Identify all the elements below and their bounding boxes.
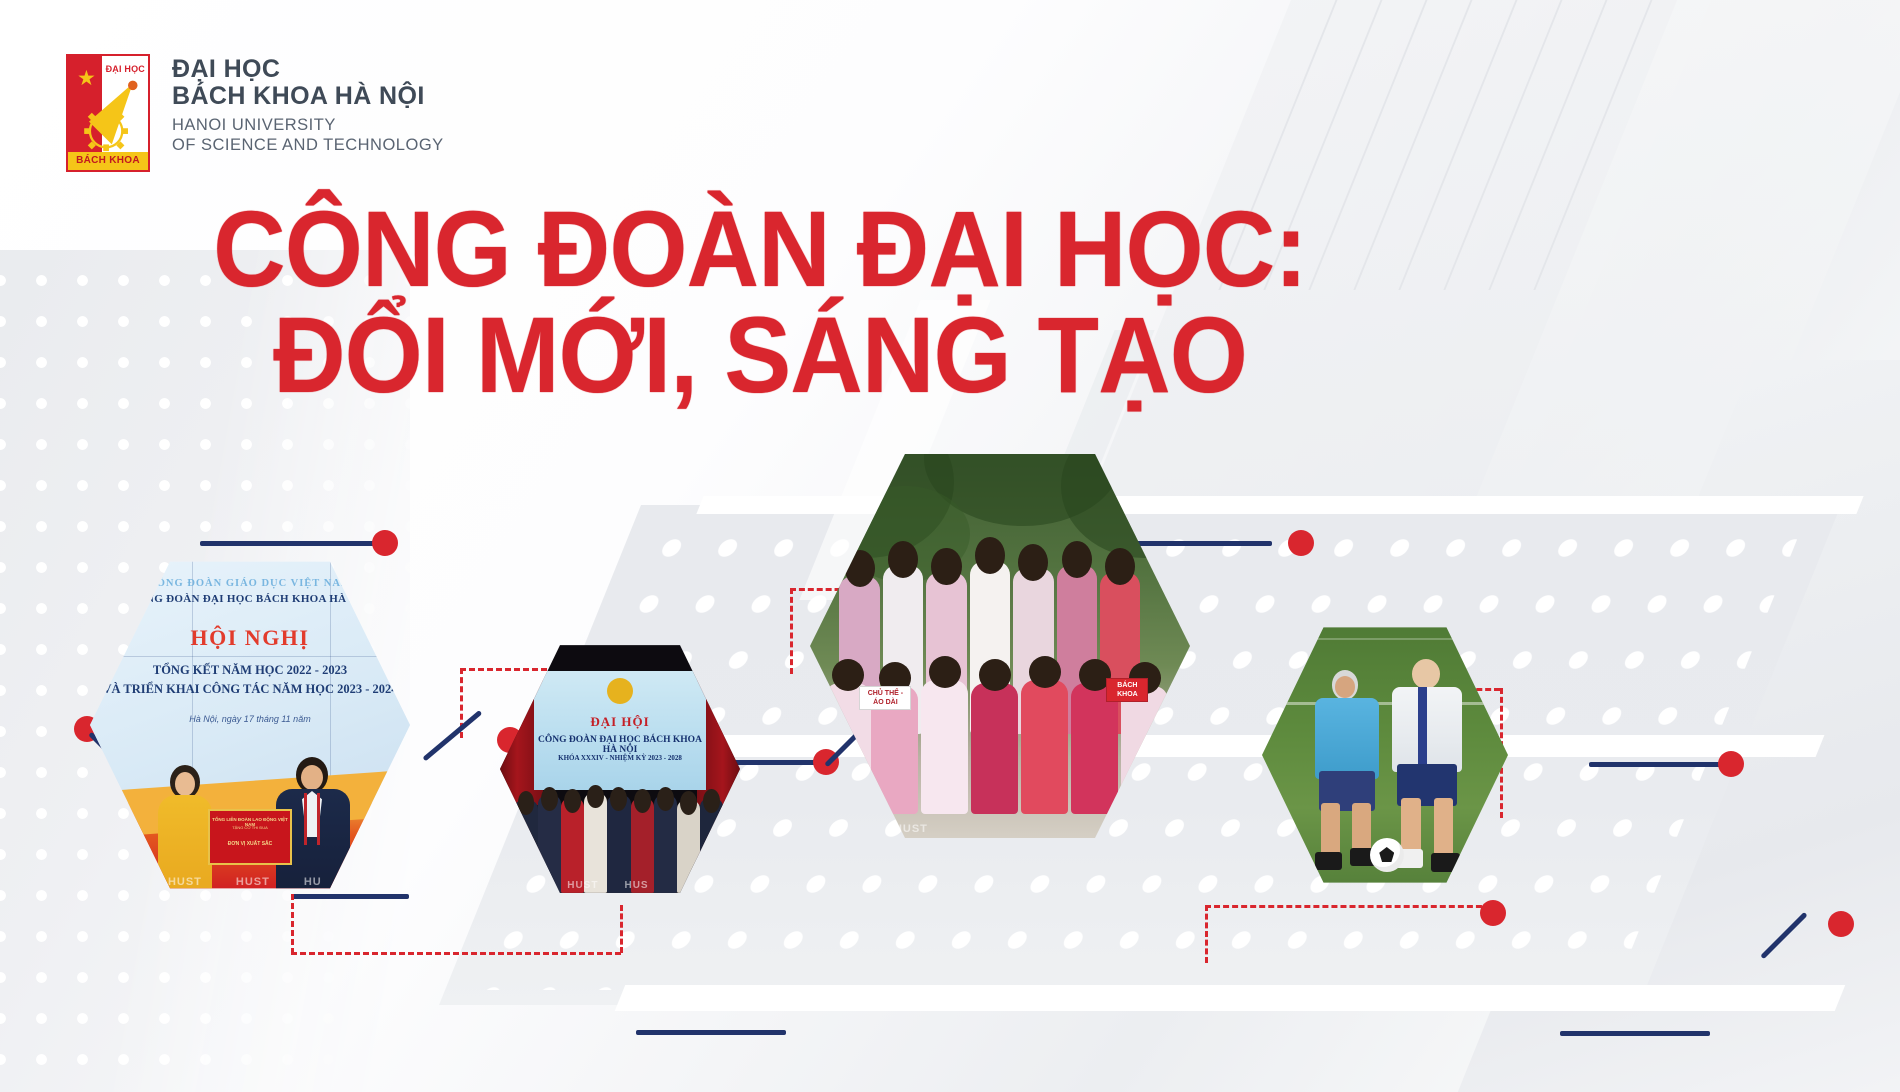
dashed-connector bbox=[291, 894, 294, 954]
brand-line-2: BÁCH KHOA HÀ NỘI bbox=[172, 83, 444, 110]
banner-org-sub: CÔNG ĐOÀN ĐẠI HỌC BÁCH KHOA HÀ NỘI bbox=[90, 593, 410, 605]
player-shoe bbox=[1431, 853, 1459, 872]
dashed-connector bbox=[1205, 905, 1208, 963]
watermark-text: HU bbox=[304, 876, 322, 888]
photo-watermark-strip: HUST HUST HUS bbox=[500, 872, 740, 898]
player-leg bbox=[1321, 803, 1340, 856]
brand-line-4: OF SCIENCE AND TECHNOLOGY bbox=[172, 135, 444, 155]
navy-connector-bar bbox=[1560, 1031, 1710, 1036]
title-line-2: ĐỔI MỚI, SÁNG TẠO bbox=[53, 302, 1467, 408]
logo-bottom-label: BÁCH KHOA bbox=[68, 152, 148, 170]
connector-dot bbox=[372, 530, 398, 556]
banner-board: CÔNG ĐOÀN GIÁO DỤC VIỆT NAM CÔNG ĐOÀN ĐẠ… bbox=[90, 555, 410, 807]
navy-connector-bar bbox=[636, 1030, 786, 1035]
brand-line-1: ĐẠI HỌC bbox=[172, 56, 444, 83]
photo-football-match bbox=[1262, 622, 1508, 888]
player-leg bbox=[1401, 798, 1420, 853]
bg-white-band bbox=[696, 496, 1863, 514]
flag-line-2: TẶNG CỜ THI ĐUA bbox=[210, 825, 290, 830]
navy-connector-bar bbox=[200, 541, 390, 546]
photo-watermark-strip: HUST HUST HUST HU bbox=[90, 869, 410, 895]
dashed-connector bbox=[291, 952, 621, 955]
photo-hexagon-conference[interactable]: CÔNG ĐOÀN GIÁO DỤC VIỆT NAM CÔNG ĐOÀN ĐẠ… bbox=[90, 555, 410, 895]
banner-line-2: VÀ TRIỂN KHAI CÔNG TÁC NĂM HỌC 2023 - 20… bbox=[90, 682, 410, 697]
photo-hexagon-congress[interactable]: ĐẠI HỘI CÔNG ĐOÀN ĐẠI HỌC BÁCH KHOA HÀ N… bbox=[500, 640, 740, 898]
held-sign-aodai: CHỦ THỂ - ÁO DÀI bbox=[859, 686, 911, 710]
union-emblem-icon bbox=[607, 678, 633, 704]
watermark-text: HUST bbox=[567, 880, 598, 891]
banner-headline: HỘI NGHỊ bbox=[90, 625, 410, 651]
stage-screen: ĐẠI HỘI CÔNG ĐOÀN ĐẠI HỌC BÁCH KHOA HÀ N… bbox=[534, 671, 707, 790]
banner-gridline bbox=[90, 656, 410, 657]
award-flag: TỔNG LIÊN ĐOÀN LAO ĐỘNG VIỆT NAM TẶNG CỜ… bbox=[208, 809, 292, 865]
watermark-text: HUST bbox=[168, 876, 202, 888]
connector-dot bbox=[1828, 911, 1854, 937]
title-line-1: CÔNG ĐOÀN ĐẠI HỌC: bbox=[53, 196, 1467, 302]
connector-dot bbox=[1718, 751, 1744, 777]
person-face bbox=[301, 765, 323, 790]
watermark-text: HUST bbox=[100, 876, 134, 888]
navy-connector-diagonal bbox=[422, 710, 482, 761]
connector-dot bbox=[1288, 530, 1314, 556]
banner-line-1: TỔNG KẾT NĂM HỌC 2022 - 2023 bbox=[90, 663, 410, 678]
player-jersey bbox=[1315, 698, 1379, 779]
navy-connector-bar bbox=[1126, 541, 1272, 546]
bg-hairline bbox=[1533, 0, 1668, 290]
photo-hexagon-aodai[interactable]: CHỦ THỂ - ÁO DÀI BÁCH KHOA HUST HUST bbox=[810, 446, 1190, 846]
bg-slab-right bbox=[1446, 360, 1900, 1092]
navy-connector-bar bbox=[291, 894, 409, 899]
banner-date: Hà Nội, ngày 17 tháng 11 năm bbox=[90, 714, 410, 724]
dashed-connector bbox=[460, 668, 463, 738]
brand-header: ★ ĐẠI HỌC BÁ bbox=[66, 54, 444, 172]
connector-dot bbox=[1480, 900, 1506, 926]
bg-white-band bbox=[615, 985, 1846, 1011]
person-lanyard bbox=[304, 793, 320, 845]
photo-conference-banner: CÔNG ĐOÀN GIÁO DỤC VIỆT NAM CÔNG ĐOÀN ĐẠ… bbox=[90, 555, 410, 895]
watermark-text: HUST bbox=[236, 876, 270, 888]
congress-line-2: KHÓA XXXIV - NHIỆM KỲ 2023 - 2028 bbox=[534, 754, 707, 762]
photo-watermark-strip: HUST HUST bbox=[810, 816, 1190, 842]
person-face bbox=[175, 772, 195, 796]
player-shoe bbox=[1315, 852, 1342, 870]
navy-connector-diagonal bbox=[1760, 912, 1807, 959]
brand-line-3: HANOI UNIVERSITY bbox=[172, 115, 444, 135]
dashed-connector bbox=[790, 588, 793, 674]
banner-org-top: CÔNG ĐOÀN GIÁO DỤC VIỆT NAM bbox=[90, 578, 410, 589]
hust-logo: ★ ĐẠI HỌC BÁ bbox=[66, 54, 150, 172]
flag-line-3: ĐƠN VỊ XUẤT SẮC bbox=[210, 841, 290, 847]
bg-white-band bbox=[656, 735, 1825, 757]
watermark-text: HUST bbox=[894, 823, 928, 835]
photo-congress-stage: ĐẠI HỘI CÔNG ĐOÀN ĐẠI HỌC BÁCH KHOA HÀ N… bbox=[500, 640, 740, 898]
watermark-text: HUS bbox=[624, 880, 648, 891]
page-title: CÔNG ĐOÀN ĐẠI HỌC: ĐỔI MỚI, SÁNG TẠO bbox=[0, 196, 1520, 408]
navy-connector-bar bbox=[1589, 762, 1737, 767]
player-jersey bbox=[1392, 687, 1461, 772]
player-jersey-stripe bbox=[1418, 687, 1427, 772]
player-head bbox=[1412, 659, 1440, 689]
connector-dot bbox=[813, 749, 839, 775]
photo-hexagon-football[interactable] bbox=[1262, 622, 1508, 888]
player-leg bbox=[1434, 798, 1453, 855]
brand-text: ĐẠI HỌC BÁCH KHOA HÀ NỘI HANOI UNIVERSIT… bbox=[172, 54, 444, 155]
pitch-line bbox=[1262, 638, 1508, 640]
watermark-text: HUST bbox=[510, 880, 541, 891]
congress-headline: ĐẠI HỘI bbox=[534, 714, 707, 730]
congress-line-1: CÔNG ĐOÀN ĐẠI HỌC BÁCH KHOA HÀ NỘI bbox=[534, 735, 707, 755]
dashed-connector bbox=[1205, 905, 1500, 908]
player-leg bbox=[1352, 803, 1371, 852]
watermark-text: HUST bbox=[820, 823, 854, 835]
held-sign-bachkhoa: BÁCH KHOA bbox=[1106, 678, 1148, 702]
dashed-connector bbox=[620, 905, 623, 953]
poster-canvas: ★ ĐẠI HỌC BÁ bbox=[0, 0, 1900, 1092]
photo-aodai-group: CHỦ THỂ - ÁO DÀI BÁCH KHOA HUST HUST bbox=[810, 446, 1190, 846]
